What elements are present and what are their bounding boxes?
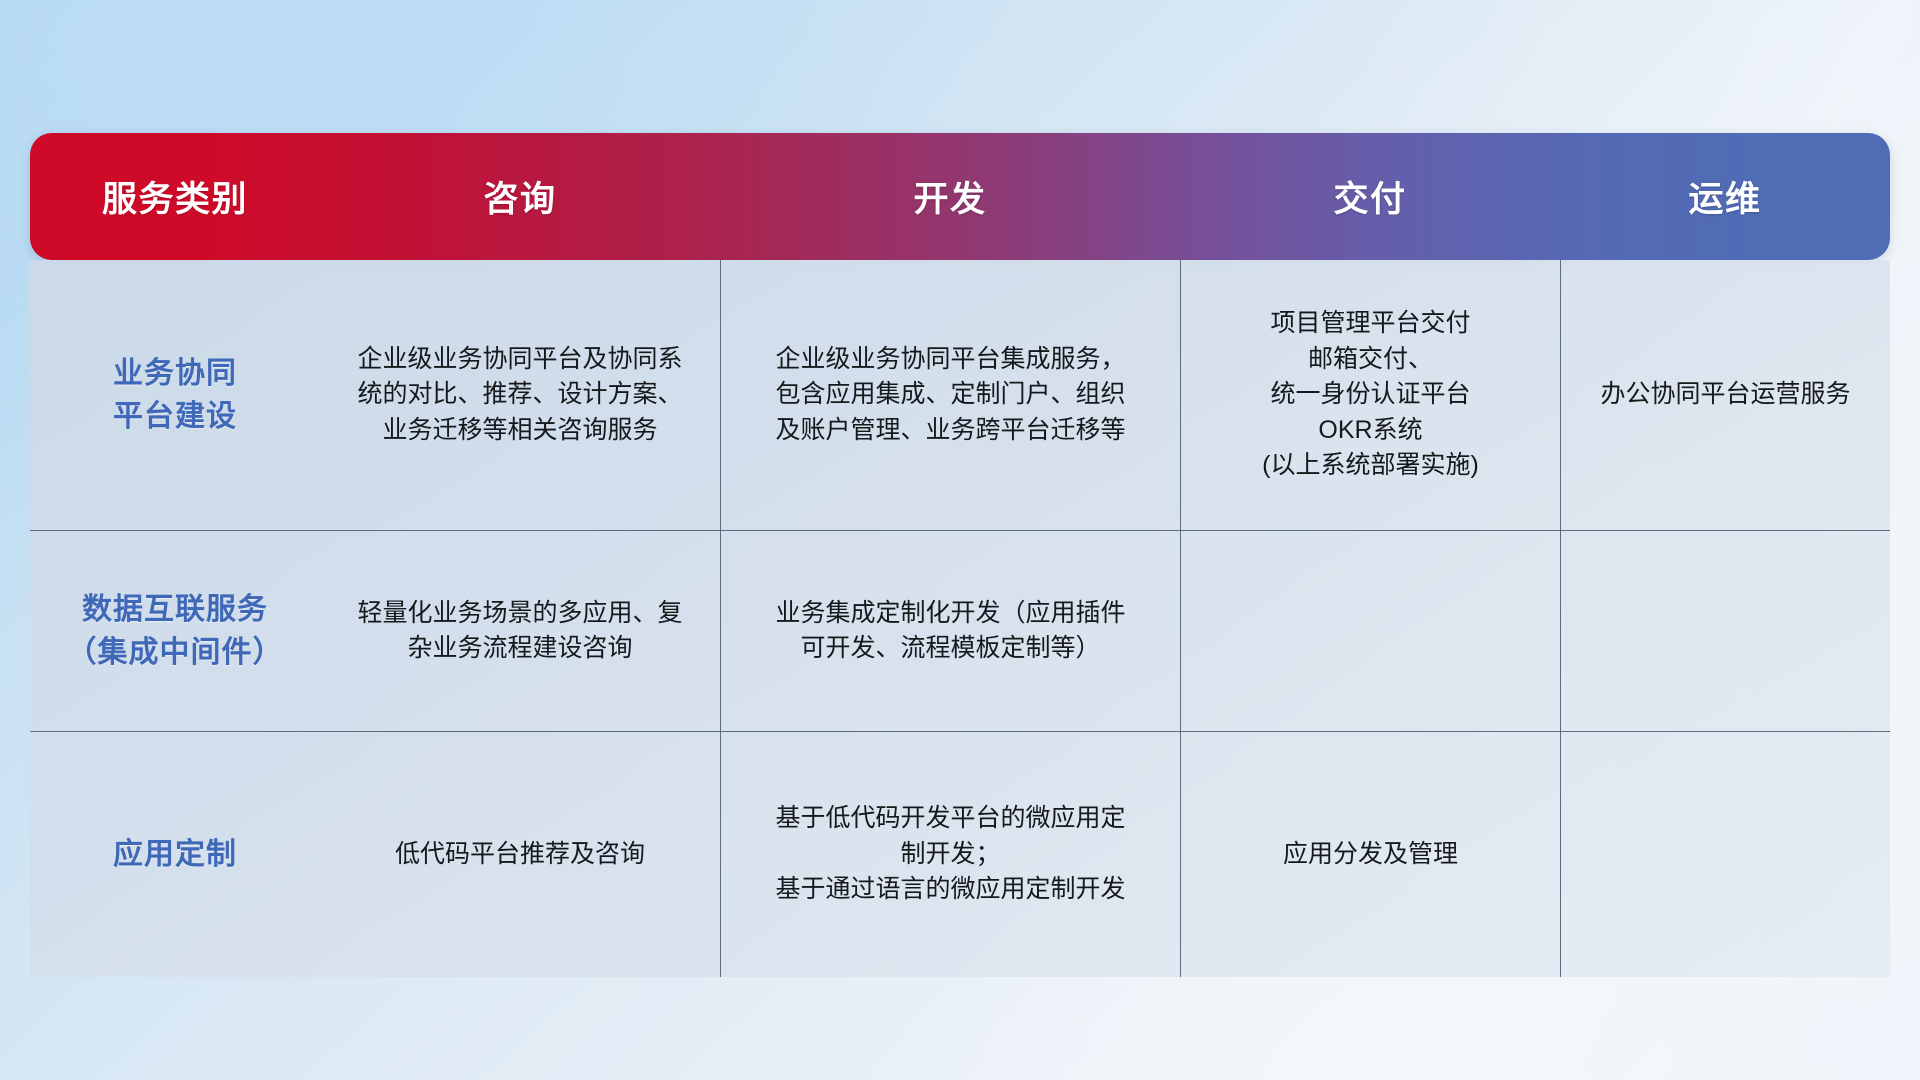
table-body: 业务协同 平台建设 企业级业务协同平台及协同系 统的对比、推荐、设计方案、 业务… xyxy=(30,260,1890,977)
cell-delivery: 项目管理平台交付 邮箱交付、 统一身份认证平台 OKR系统 (以上系统部署实施) xyxy=(1180,260,1560,530)
table-row: 应用定制 低代码平台推荐及咨询 基于低代码开发平台的微应用定 制开发； 基于通过… xyxy=(30,731,1890,977)
cell-delivery: 应用分发及管理 xyxy=(1180,732,1560,977)
table-row: 数据互联服务 （集成中间件） 轻量化业务场景的多应用、复 杂业务流程建设咨询 业… xyxy=(30,530,1890,731)
cell-consulting: 轻量化业务场景的多应用、复 杂业务流程建设咨询 xyxy=(320,531,720,731)
cell-delivery xyxy=(1180,531,1560,731)
cell-development: 基于低代码开发平台的微应用定 制开发； 基于通过语言的微应用定制开发 xyxy=(720,732,1180,977)
service-matrix-table: 服务类别 咨询 开发 交付 运维 业务协同 平台建设 企业级业务协同平台及协同系… xyxy=(30,133,1890,977)
table-row: 业务协同 平台建设 企业级业务协同平台及协同系 统的对比、推荐、设计方案、 业务… xyxy=(30,260,1890,530)
cell-operations xyxy=(1560,531,1890,731)
cell-operations: 办公协同平台运营服务 xyxy=(1560,260,1890,530)
cell-consulting: 企业级业务协同平台及协同系 统的对比、推荐、设计方案、 业务迁移等相关咨询服务 xyxy=(320,260,720,530)
cell-development: 业务集成定制化开发（应用插件 可开发、流程模板定制等） xyxy=(720,531,1180,731)
row-category-label: 业务协同 平台建设 xyxy=(30,260,320,530)
cell-consulting: 低代码平台推荐及咨询 xyxy=(320,732,720,977)
table-header-row: 服务类别 咨询 开发 交付 运维 xyxy=(30,133,1890,260)
cell-operations xyxy=(1560,732,1890,977)
column-header-service-category: 服务类别 xyxy=(30,133,320,260)
column-header-development: 开发 xyxy=(720,133,1180,260)
column-header-consulting: 咨询 xyxy=(320,133,720,260)
column-header-operations: 运维 xyxy=(1560,133,1890,260)
column-header-delivery: 交付 xyxy=(1180,133,1560,260)
row-category-label: 数据互联服务 （集成中间件） xyxy=(30,531,320,731)
row-category-label: 应用定制 xyxy=(30,732,320,977)
cell-development: 企业级业务协同平台集成服务， 包含应用集成、定制门户、组织 及账户管理、业务跨平… xyxy=(720,260,1180,530)
